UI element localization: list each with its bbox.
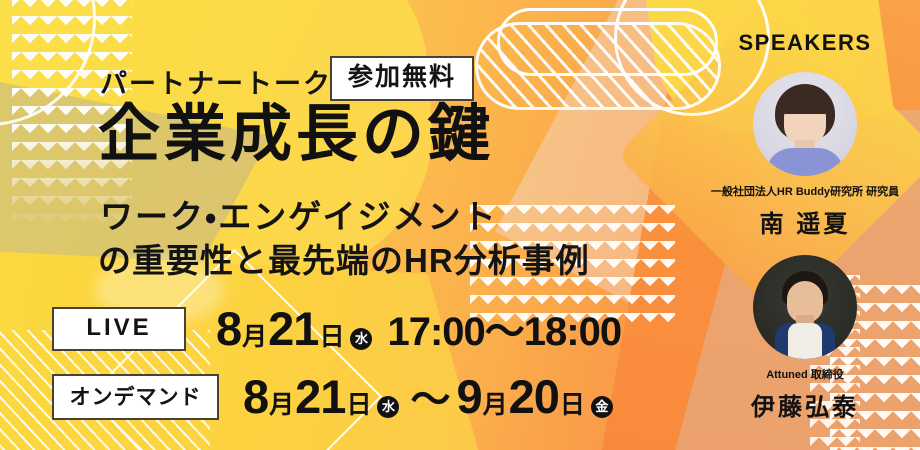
- banner-subtitle-line2: の重要性と最先端のHR分析事例: [98, 234, 590, 282]
- live-day-of-week-badge: 水: [350, 328, 372, 350]
- kicker-label: パートナートーク: [100, 62, 332, 101]
- speaker-card: 一般社団法人HR Buddy研究所 研究員 南 遥夏: [690, 72, 920, 239]
- ondemand-end-day-number: 20: [509, 373, 559, 420]
- ondemand-schedule-row: オンデマンド 8 月 21 日 水 〜 9 月 20 日 金: [52, 373, 618, 420]
- ondemand-start-day-unit: 日: [346, 393, 371, 418]
- woman-portrait-avatar: [753, 72, 857, 176]
- avatar-body-shape: [766, 148, 844, 176]
- live-month-unit: 月: [242, 325, 267, 350]
- speaker-role: Attuned 取締役: [690, 368, 920, 383]
- ondemand-date-line: 8 月 21 日 水 〜 9 月 20 日 金: [243, 373, 618, 420]
- man-portrait-avatar: [753, 255, 857, 359]
- avatar-fringe-shape: [779, 94, 831, 114]
- live-day-number: 21: [268, 305, 318, 352]
- live-schedule-row: LIVE 8 月 21 日 水 17:00〜18:00: [52, 305, 621, 352]
- speaker-card: Attuned 取締役 伊藤弘泰: [690, 255, 920, 422]
- live-tag: LIVE: [52, 307, 186, 351]
- ondemand-start-month-unit: 月: [269, 393, 294, 418]
- ondemand-range-separator: 〜: [410, 380, 450, 420]
- ondemand-end-day-unit: 日: [560, 393, 585, 418]
- speaker-role: 一般社団法人HR Buddy研究所 研究員: [690, 185, 920, 200]
- free-admission-badge: 参加無料: [330, 56, 474, 101]
- banner-headline: 企業成長の鍵: [98, 102, 494, 167]
- speaker-name: 南 遥夏: [690, 204, 920, 239]
- speakers-heading: SPEAKERS: [738, 30, 871, 56]
- webinar-banner: パートナートーク 参加無料 企業成長の鍵 ワーク・エンゲイジメント の重要性と最…: [0, 0, 920, 450]
- ondemand-start-day-number: 21: [295, 373, 345, 420]
- ondemand-tag: オンデマンド: [52, 374, 219, 420]
- avatar-shirt-shape: [788, 323, 822, 359]
- ondemand-start-day-of-week-badge: 水: [377, 396, 399, 418]
- banner-subtitle-line1: ワーク・エンゲイジメント: [100, 190, 498, 238]
- ondemand-end-day-of-week-badge: 金: [591, 396, 613, 418]
- speakers-panel: SPEAKERS 一般社団法人HR Buddy研究所 研究員 南 遥夏 At: [690, 0, 920, 450]
- live-day-unit: 日: [319, 325, 344, 350]
- ondemand-start-month-number: 8: [243, 373, 268, 420]
- speaker-name: 伊藤弘泰: [690, 387, 920, 422]
- ondemand-end-month-number: 9: [456, 373, 481, 420]
- live-month-number: 8: [216, 305, 241, 352]
- ondemand-end-month-unit: 月: [483, 393, 508, 418]
- live-date-line: 8 月 21 日 水 17:00〜18:00: [216, 305, 621, 352]
- banner-content: パートナートーク 参加無料 企業成長の鍵 ワーク・エンゲイジメント の重要性と最…: [0, 0, 690, 450]
- live-time-range: 17:00〜18:00: [387, 312, 621, 352]
